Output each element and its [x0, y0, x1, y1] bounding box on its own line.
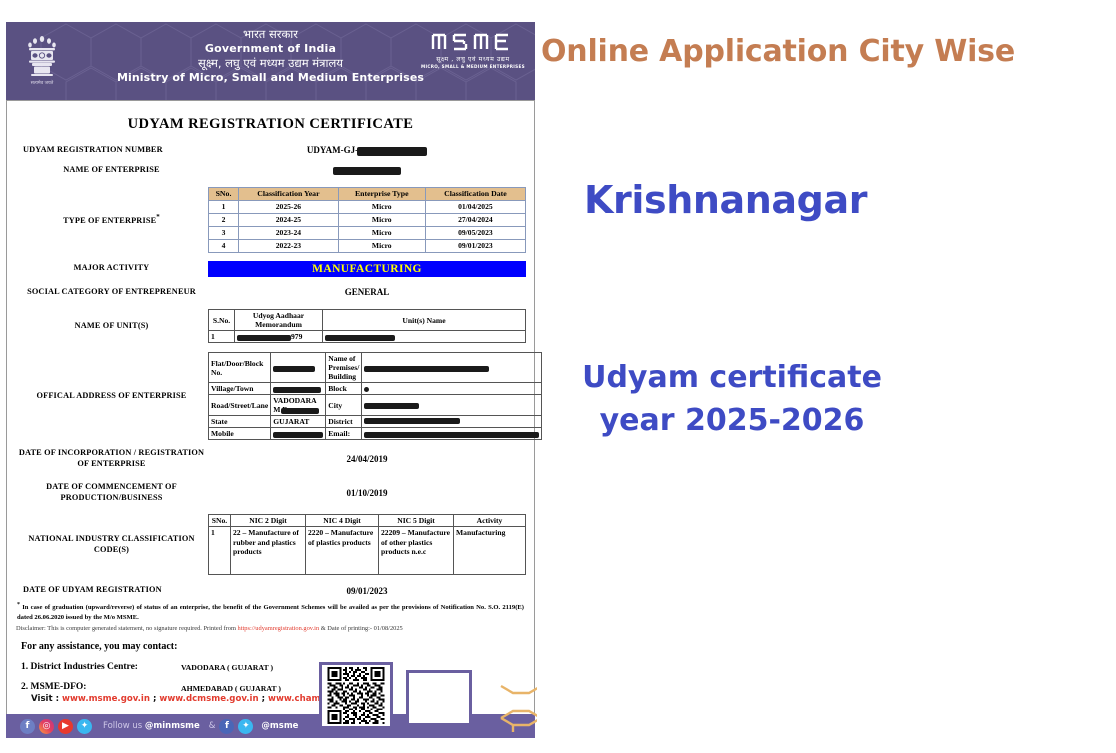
units-table: S.No. Udyog Aadhaar Memorandum Unit(s) N…	[208, 309, 526, 343]
table-row: Road/Street/Lane VADODARA M D City	[209, 395, 542, 416]
row-date-commencement: DATE OF COMMENCEMENT OF PRODUCTION/BUSIN…	[15, 482, 526, 504]
value-village-town	[271, 383, 326, 395]
value-premises-building	[362, 353, 542, 383]
asterisk-marker: *	[156, 213, 160, 221]
table-row: 1 2025-26 Micro 01/04/2025	[209, 200, 526, 213]
msme-logo-english: MICRO, SMALL & MEDIUM ENTERPRISES	[419, 64, 527, 69]
redaction-mark	[364, 432, 539, 438]
value-block	[362, 383, 542, 395]
disclaimer-prefix: Disclaimer: This is computer generated s…	[16, 625, 238, 632]
col-sno: S.No.	[209, 310, 235, 331]
col-activity: Activity	[454, 515, 526, 527]
qr-code[interactable]	[319, 662, 393, 729]
cell-year: 2022-23	[239, 239, 339, 252]
redaction-mark	[273, 432, 323, 438]
certificate-title: UDYAM REGISTRATION CERTIFICATE	[15, 116, 526, 133]
label-city: City	[326, 395, 362, 416]
page-headline: Online Application City Wise	[541, 34, 1015, 69]
redaction-mark	[364, 418, 460, 424]
label-type-of-enterprise-text: TYPE OF ENTERPRISE	[63, 216, 156, 225]
table-row: 4 2022-23 Micro 09/01/2023	[209, 239, 526, 252]
signature-placeholder-box	[406, 670, 472, 726]
contact-label: 2. MSME-DFO:	[21, 682, 181, 693]
visit-link-msme[interactable]: www.msme.gov.in	[62, 694, 150, 704]
visit-separator-2: ;	[259, 694, 268, 704]
cell-year: 2023-24	[239, 226, 339, 239]
value-social-category: GENERAL	[208, 287, 526, 297]
value-mobile	[271, 428, 326, 440]
label-village-town: Village/Town	[209, 383, 271, 395]
table-row: 3 2023-24 Micro 09/05/2023	[209, 226, 526, 239]
nic-table: SNo. NIC 2 Digit NIC 4 Digit NIC 5 Digit…	[208, 514, 526, 575]
label-email: Email:	[326, 428, 362, 440]
handle-secondary-wrap: @msme	[261, 721, 298, 731]
disclaimer-link[interactable]: https://udyamregistration.gov.in	[238, 625, 320, 632]
value-enterprise-name	[208, 165, 526, 175]
ampersand-separator: &	[209, 721, 216, 731]
certificate-body: UDYAM REGISTRATION CERTIFICATE UDYAM REG…	[6, 100, 535, 714]
cell-sno: 1	[209, 331, 235, 343]
cell-sno: 2	[209, 213, 239, 226]
value-flat-door-block	[271, 353, 326, 383]
redaction-mark	[333, 167, 401, 175]
visit-link-dcmsme[interactable]: www.dcmsme.gov.in	[159, 694, 258, 704]
table-row: Village/Town Block	[209, 383, 542, 395]
qr-code-icon	[324, 667, 388, 724]
redaction-mark	[357, 147, 427, 156]
redaction-mark	[325, 335, 395, 341]
redaction-mark	[237, 335, 291, 341]
label-block: Block	[326, 383, 362, 395]
value-road-street-lane: VADODARA M D	[271, 395, 326, 416]
col-enterprise-type: Enterprise Type	[338, 187, 425, 200]
col-classification-year: Classification Year	[239, 187, 339, 200]
cell-sno: 1	[209, 527, 231, 575]
cell-year: 2025-26	[239, 200, 339, 213]
label-road-street-lane: Road/Street/Lane	[209, 395, 271, 416]
classification-table: SNo. Classification Year Enterprise Type…	[208, 187, 526, 253]
row-social-category: SOCIAL CATEGORY OF ENTREPRENEUR GENERAL	[15, 287, 526, 298]
handle-secondary: @msme	[261, 721, 298, 731]
cell-type: Micro	[338, 200, 425, 213]
msme-logomark-icon	[419, 30, 527, 52]
cell-type: Micro	[338, 213, 425, 226]
label-social-category: SOCIAL CATEGORY OF ENTREPRENEUR	[15, 287, 208, 298]
label-udyam-number: UDYAM REGISTRATION NUMBER	[15, 145, 208, 156]
table-header-row: SNo. Classification Year Enterprise Type…	[209, 187, 526, 200]
contact-value: AHMEDABAD ( GUJARAT )	[181, 682, 281, 693]
table-row: 2 2024-25 Micro 27/04/2024	[209, 213, 526, 226]
twitter-icon[interactable]: ✦	[77, 719, 92, 734]
graduation-footnote: * In case of graduation (upward/reverse)…	[15, 601, 526, 622]
label-enterprise-name: NAME OF ENTERPRISE	[15, 165, 208, 176]
value-state: GUJARAT	[271, 416, 326, 428]
msme-logo-hindi: सूक्ष्म , लघु एवं मध्यम उद्यम	[419, 54, 527, 63]
row-name-of-units: NAME OF UNIT(S) S.No. Udyog Aadhaar Memo…	[15, 309, 526, 343]
label-district: District	[326, 416, 362, 428]
cell-date: 09/01/2023	[425, 239, 525, 252]
assistance-heading: For any assistance, you may contact:	[15, 641, 526, 652]
redaction-mark	[273, 387, 321, 393]
row-official-address: OFFICAL ADDRESS OF ENTERPRISE Flat/Door/…	[15, 352, 526, 440]
label-date-udyam-registration: DATE OF UDYAM REGISTRATION	[15, 585, 208, 596]
facebook-icon[interactable]: f	[219, 719, 234, 734]
cell-uam: 979	[235, 331, 323, 343]
row-nic-codes: NATIONAL INDUSTRY CLASSIFICATION CODE(S)…	[15, 514, 526, 575]
label-name-of-units: NAME OF UNIT(S)	[15, 321, 208, 332]
value-major-activity: MANUFACTURING	[208, 261, 526, 277]
value-udyam-number: UDYAM-GJ-	[208, 145, 526, 155]
instagram-icon[interactable]: ◎	[39, 719, 54, 734]
table-row: 1 979	[209, 331, 526, 343]
label-date-commencement: DATE OF COMMENCEMENT OF PRODUCTION/BUSIN…	[15, 482, 208, 504]
city-name-heading: Krishnanagar	[584, 178, 867, 222]
disclaimer-line: Disclaimer: This is computer generated s…	[15, 625, 526, 632]
cell-type: Micro	[338, 239, 425, 252]
redaction-mark	[364, 366, 489, 372]
col-sno: SNo.	[209, 187, 239, 200]
subheading-line1: Udyam certificate	[567, 357, 897, 400]
annotation-panel: Online Application City Wise Krishnanaga…	[535, 0, 1116, 753]
cell-unit-name	[323, 331, 526, 343]
label-major-activity: MAJOR ACTIVITY	[15, 263, 208, 274]
value-date-incorporation: 24/04/2019	[208, 454, 526, 464]
label-official-address: OFFICAL ADDRESS OF ENTERPRISE	[15, 391, 208, 402]
label-state: State	[209, 416, 271, 428]
cell-date: 09/05/2023	[425, 226, 525, 239]
asterisk-marker: *	[17, 602, 20, 608]
table-header-row: SNo. NIC 2 Digit NIC 4 Digit NIC 5 Digit…	[209, 515, 526, 527]
cell-date: 27/04/2024	[425, 213, 525, 226]
twitter-icon[interactable]: ✦	[238, 719, 253, 734]
cell-type: Micro	[338, 226, 425, 239]
uam-suffix: 979	[291, 332, 302, 341]
cell-sno: 1	[209, 200, 239, 213]
cell-sno: 3	[209, 226, 239, 239]
label-flat-door-block: Flat/Door/Block No.	[209, 353, 271, 383]
table-row: 1 22 – Manufacture of rubber and plastic…	[209, 527, 526, 575]
value-date-udyam-registration: 09/01/2023	[208, 586, 526, 596]
footnote-text: In case of graduation (upward/reverse) o…	[17, 604, 524, 621]
follow-label: Follow us	[103, 721, 145, 731]
row-major-activity: MAJOR ACTIVITY MANUFACTURING	[15, 261, 526, 277]
row-udyam-number: UDYAM REGISTRATION NUMBER UDYAM-GJ-	[15, 145, 526, 156]
udyam-certificate-document: सत्यमेव जयते भारत सरकार Government of In…	[6, 22, 535, 738]
col-classification-date: Classification Date	[425, 187, 525, 200]
contact-value: VADODARA ( GUJARAT )	[181, 662, 273, 673]
follow-text: Follow us @minmsme	[103, 721, 200, 731]
subheading-line2: year 2025-2026	[567, 400, 897, 443]
col-sno: SNo.	[209, 515, 231, 527]
cell-nic5: 22209 – Manufacture of other plastics pr…	[379, 527, 454, 575]
disclaimer-suffix: & Date of printing:- 01/08/2025	[319, 625, 403, 632]
col-nic4: NIC 4 Digit	[306, 515, 379, 527]
cell-sno: 4	[209, 239, 239, 252]
government-masthead: सत्यमेव जयते भारत सरकार Government of In…	[6, 22, 535, 100]
visit-prefix: Visit :	[31, 694, 62, 704]
msme-logo: सूक्ष्म , लघु एवं मध्यम उद्यम MICRO, SMA…	[419, 30, 527, 69]
label-premises-building: Name of Premises/ Building	[326, 353, 362, 383]
row-enterprise-name: NAME OF ENTERPRISE	[15, 165, 526, 176]
redaction-mark	[364, 403, 419, 409]
row-date-udyam-registration: DATE OF UDYAM REGISTRATION 09/01/2023	[15, 585, 526, 596]
table-header-row: S.No. Udyog Aadhaar Memorandum Unit(s) N…	[209, 310, 526, 331]
value-city	[362, 395, 542, 416]
col-uam: Udyog Aadhaar Memorandum	[235, 310, 323, 331]
label-mobile: Mobile	[209, 428, 271, 440]
subheading-block: Udyam certificate year 2025-2026	[567, 357, 897, 442]
col-unit-name: Unit(s) Name	[323, 310, 526, 331]
value-date-commencement: 01/10/2019	[208, 488, 526, 498]
row-type-of-enterprise: TYPE OF ENTERPRISE* SNo. Classification …	[15, 187, 526, 253]
label-nic-codes: NATIONAL INDUSTRY CLASSIFICATION CODE(S)	[15, 534, 208, 556]
table-row: Flat/Door/Block No. Name of Premises/ Bu…	[209, 353, 542, 383]
cell-nic2: 22 – Manufacture of rubber and plastics …	[231, 527, 306, 575]
redaction-mark	[364, 387, 369, 392]
facebook-icon[interactable]: f	[20, 719, 35, 734]
cell-nic4: 2220 – Manufacture of plastics products	[306, 527, 379, 575]
label-date-incorporation: DATE OF INCORPORATION / REGISTRATION OF …	[15, 448, 208, 470]
contact-label: 1. District Industries Centre:	[21, 662, 181, 673]
youtube-icon[interactable]: ▶	[58, 719, 73, 734]
visit-separator-1: ;	[150, 694, 159, 704]
redaction-mark	[273, 366, 315, 372]
cell-activity: Manufacturing	[454, 527, 526, 575]
udyam-number-prefix: UDYAM-GJ-	[307, 145, 358, 155]
row-date-incorporation: DATE OF INCORPORATION / REGISTRATION OF …	[15, 448, 526, 470]
col-nic5: NIC 5 Digit	[379, 515, 454, 527]
redaction-mark	[281, 408, 319, 414]
table-row: State GUJARAT District VADODARA - 45	[209, 416, 542, 428]
label-type-of-enterprise: TYPE OF ENTERPRISE*	[15, 213, 208, 227]
cell-date: 01/04/2025	[425, 200, 525, 213]
address-table: Flat/Door/Block No. Name of Premises/ Bu…	[208, 352, 542, 440]
cell-year: 2024-25	[239, 213, 339, 226]
value-email	[362, 428, 542, 440]
masthead-english-line2: Ministry of Micro, Small and Medium Ente…	[6, 71, 535, 85]
value-district: VADODARA - 45	[362, 416, 542, 428]
col-nic2: NIC 2 Digit	[231, 515, 306, 527]
handle-primary: @minmsme	[145, 721, 200, 731]
table-row: Mobile Email:	[209, 428, 542, 440]
